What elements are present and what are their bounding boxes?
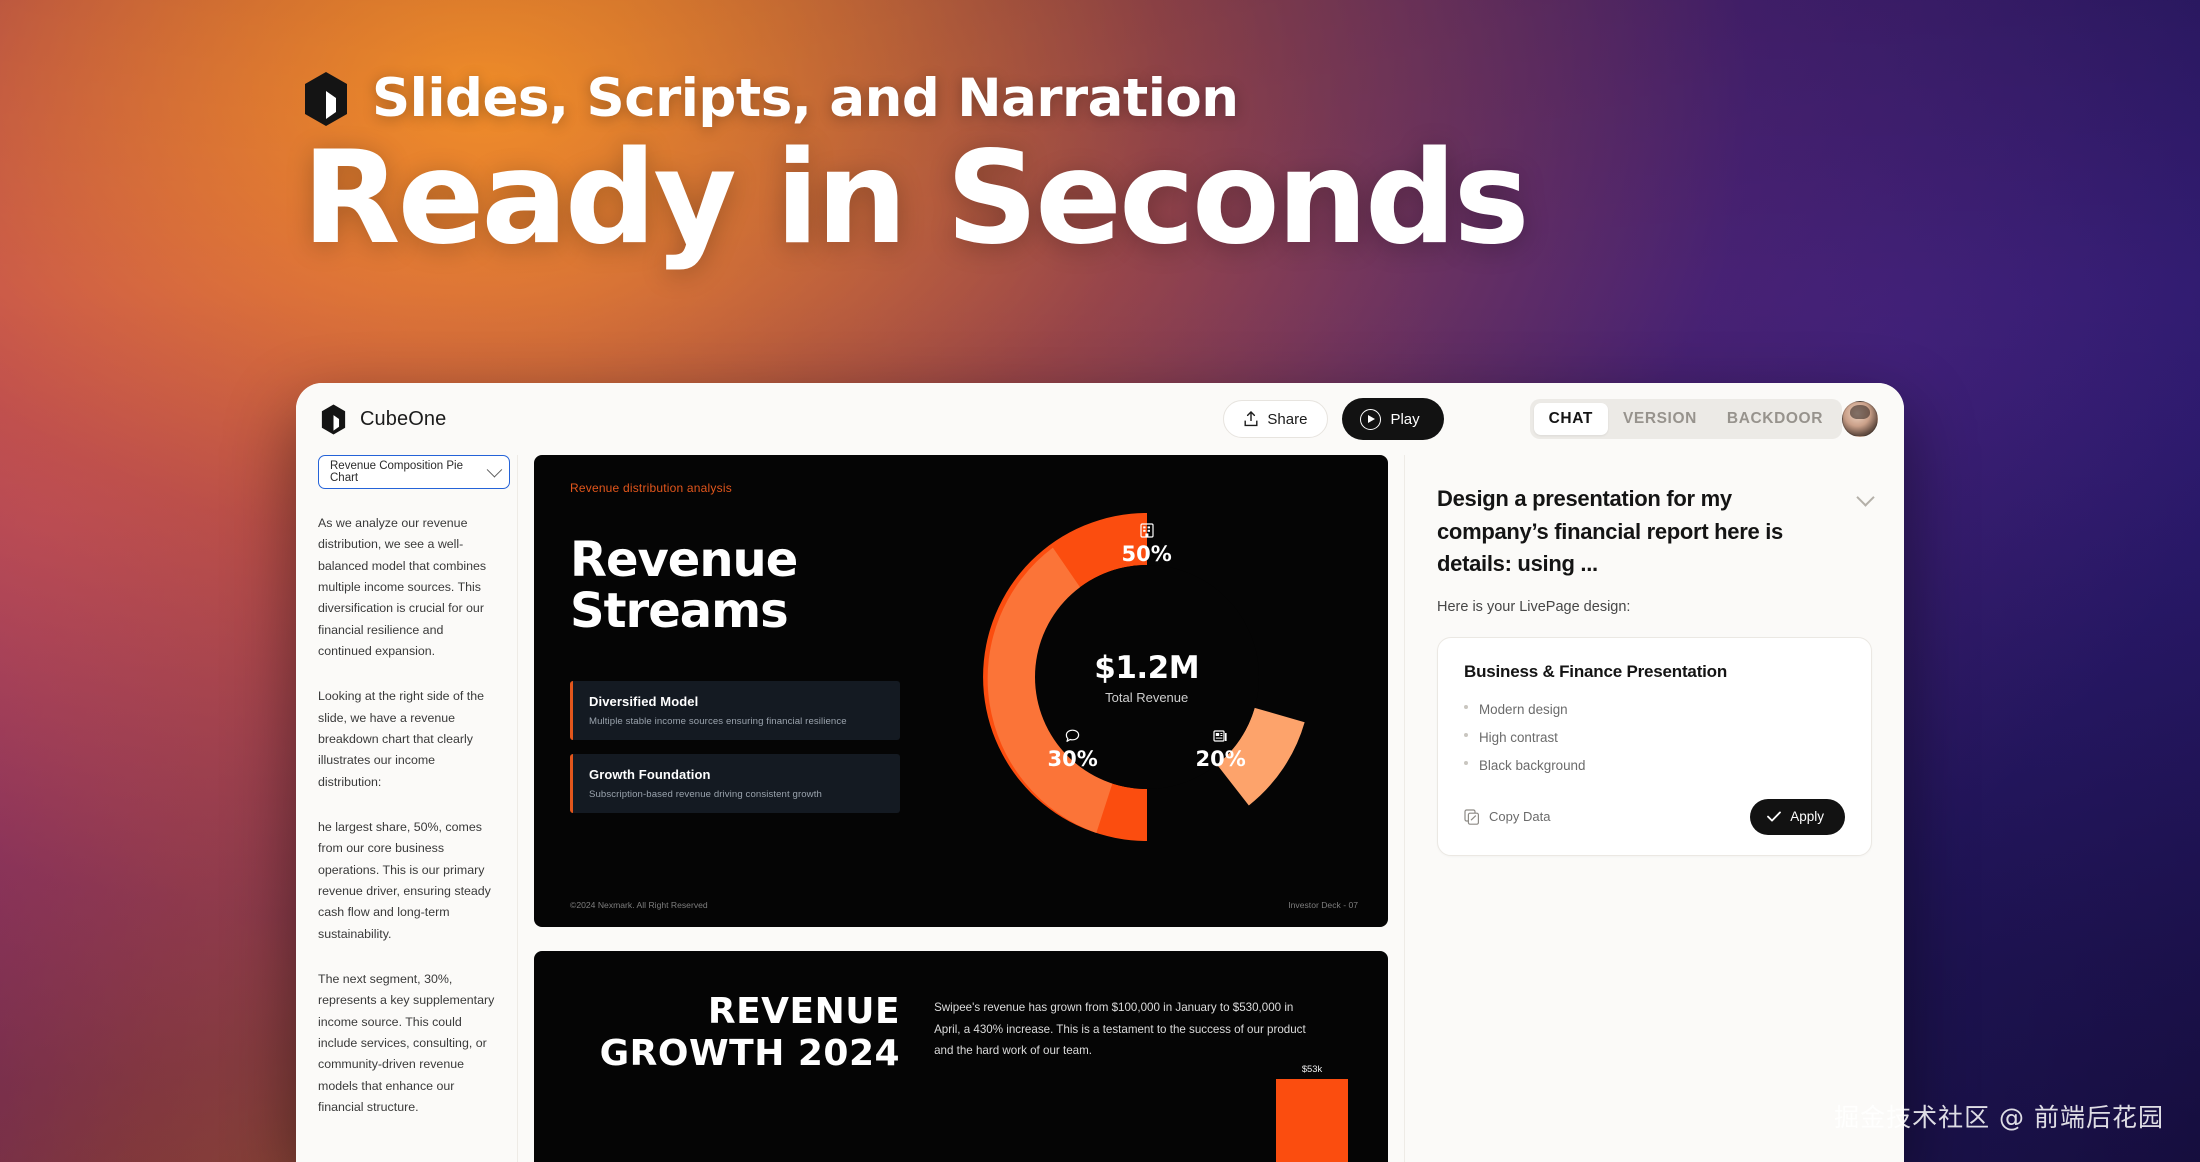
cube-logo-icon [320, 404, 347, 435]
slide2-body: Swipee's revenue has grown from $100,000… [934, 991, 1320, 1141]
tab-backdoor[interactable]: BACKDOOR [1712, 403, 1838, 435]
slide2-title: REVENUE GROWTH 2024 [568, 991, 900, 1141]
app-window: CubeOne Share Play CHAT VERSION BACKDOOR [296, 383, 1904, 1162]
play-label: Play [1390, 411, 1419, 428]
bullet-dot-icon [1464, 705, 1468, 709]
chevron-down-icon[interactable] [1856, 488, 1874, 506]
list-item: High contrast [1464, 730, 1845, 745]
bullet-dot-icon [1464, 761, 1468, 765]
bullet-label: Black background [1479, 758, 1585, 773]
app-header: CubeOne Share Play CHAT VERSION BACKDOOR [296, 383, 1904, 455]
share-button[interactable]: Share [1223, 400, 1328, 438]
slide-title: Revenue Streams [570, 535, 933, 637]
narration-paragraph: he largest share, 50%, comes from our co… [318, 817, 495, 945]
feature-card: Growth Foundation Subscription-based rev… [570, 754, 900, 813]
feature-card: Diversified Model Multiple stable income… [570, 681, 900, 740]
revenue-donut-chart: $1.2M Total Revenue [971, 501, 1323, 853]
slide-select-value: Revenue Composition Pie Chart [330, 460, 489, 484]
panel-tabs: CHAT VERSION BACKDOOR [1530, 399, 1842, 439]
narration-paragraph: Looking at the right side of the slide, … [318, 686, 495, 793]
copy-data-button[interactable]: Copy Data [1464, 809, 1550, 825]
avatar[interactable] [1842, 401, 1878, 437]
bar [1276, 1079, 1348, 1162]
list-item: Modern design [1464, 702, 1845, 717]
donut-svg [971, 501, 1323, 853]
app-body: Revenue Composition Pie Chart As we anal… [296, 455, 1904, 1162]
livepage-design-card: Business & Finance Presentation Modern d… [1437, 637, 1872, 856]
card-bullets: Modern design High contrast Black backgr… [1464, 702, 1845, 773]
chat-question-row: Design a presentation for my company’s f… [1437, 483, 1872, 581]
narration-panel: Revenue Composition Pie Chart As we anal… [296, 455, 518, 1162]
play-icon [1360, 409, 1381, 430]
slide-content: Revenue Streams Diversified Model Multip… [570, 495, 1360, 919]
tab-chat[interactable]: CHAT [1534, 403, 1608, 435]
bullet-dot-icon [1464, 733, 1468, 737]
card-footer: Copy Data Apply [1464, 799, 1845, 835]
share-upload-icon [1244, 411, 1258, 427]
slide2-title-line1: REVENUE [568, 991, 900, 1033]
list-item: Black background [1464, 758, 1845, 773]
copy-icon [1464, 809, 1480, 825]
tab-version[interactable]: VERSION [1608, 403, 1712, 435]
slide-canvas[interactable]: Revenue distribution analysis Revenue St… [518, 455, 1404, 1162]
slide2-title-line2: GROWTH 2024 [568, 1033, 900, 1075]
donut-chart-wrap: $1.2M Total Revenue [933, 495, 1360, 853]
slide-footer: ©2024 Nexmark. All Right Reserved Invest… [570, 900, 1358, 910]
chat-subtitle: Here is your LivePage design: [1437, 599, 1872, 615]
slide2-row: REVENUE GROWTH 2024 Swipee's revenue has… [568, 991, 1354, 1141]
share-label: Share [1267, 411, 1307, 428]
narration-paragraph: The next segment, 30%, represents a key … [318, 969, 495, 1118]
card-title: Business & Finance Presentation [1464, 662, 1845, 682]
hero-kicker-row: Slides, Scripts, and Narration [302, 68, 1527, 129]
chat-panel: Design a presentation for my company’s f… [1404, 455, 1904, 1162]
play-button[interactable]: Play [1342, 398, 1443, 440]
slide-title-line1: Revenue [570, 535, 933, 586]
narration-paragraph: As we analyze our revenue distribution, … [318, 513, 495, 662]
slide-left-column: Revenue Streams Diversified Model Multip… [570, 495, 933, 827]
bullet-label: High contrast [1479, 730, 1558, 745]
feature-list: Diversified Model Multiple stable income… [570, 681, 933, 813]
donut-hole [1035, 565, 1259, 789]
slide-revenue-streams[interactable]: Revenue distribution analysis Revenue St… [534, 455, 1388, 927]
slide-revenue-growth[interactable]: REVENUE GROWTH 2024 Swipee's revenue has… [534, 951, 1388, 1162]
brand-name: CubeOne [360, 408, 446, 431]
apply-button[interactable]: Apply [1750, 799, 1845, 835]
feature-desc: Subscription-based revenue driving consi… [589, 789, 884, 800]
bar-column: $53k [1276, 1063, 1348, 1162]
slide-deck-number: Investor Deck - 07 [1288, 900, 1358, 910]
feature-desc: Multiple stable income sources ensuring … [589, 716, 884, 727]
check-icon [1767, 811, 1781, 822]
bar-value-label: $53k [1276, 1063, 1348, 1074]
hero-kicker: Slides, Scripts, and Narration [372, 68, 1239, 129]
chat-question: Design a presentation for my company’s f… [1437, 483, 1847, 581]
slide-title-line2: Streams [570, 586, 933, 637]
copy-data-label: Copy Data [1489, 809, 1550, 824]
cube-logo-icon [302, 71, 350, 127]
slide-copyright: ©2024 Nexmark. All Right Reserved [570, 900, 708, 910]
hero-section: Slides, Scripts, and Narration Ready in … [302, 68, 1527, 263]
brand: CubeOne [320, 404, 446, 435]
apply-label: Apply [1790, 809, 1824, 824]
bullet-label: Modern design [1479, 702, 1568, 717]
feature-title: Growth Foundation [589, 767, 884, 782]
hero-title: Ready in Seconds [302, 135, 1527, 263]
slide-kicker: Revenue distribution analysis [570, 481, 1360, 495]
watermark: 掘金技术社区 @ 前端后花园 [1834, 1098, 2164, 1134]
slide-select[interactable]: Revenue Composition Pie Chart [318, 455, 510, 489]
feature-title: Diversified Model [589, 694, 884, 709]
